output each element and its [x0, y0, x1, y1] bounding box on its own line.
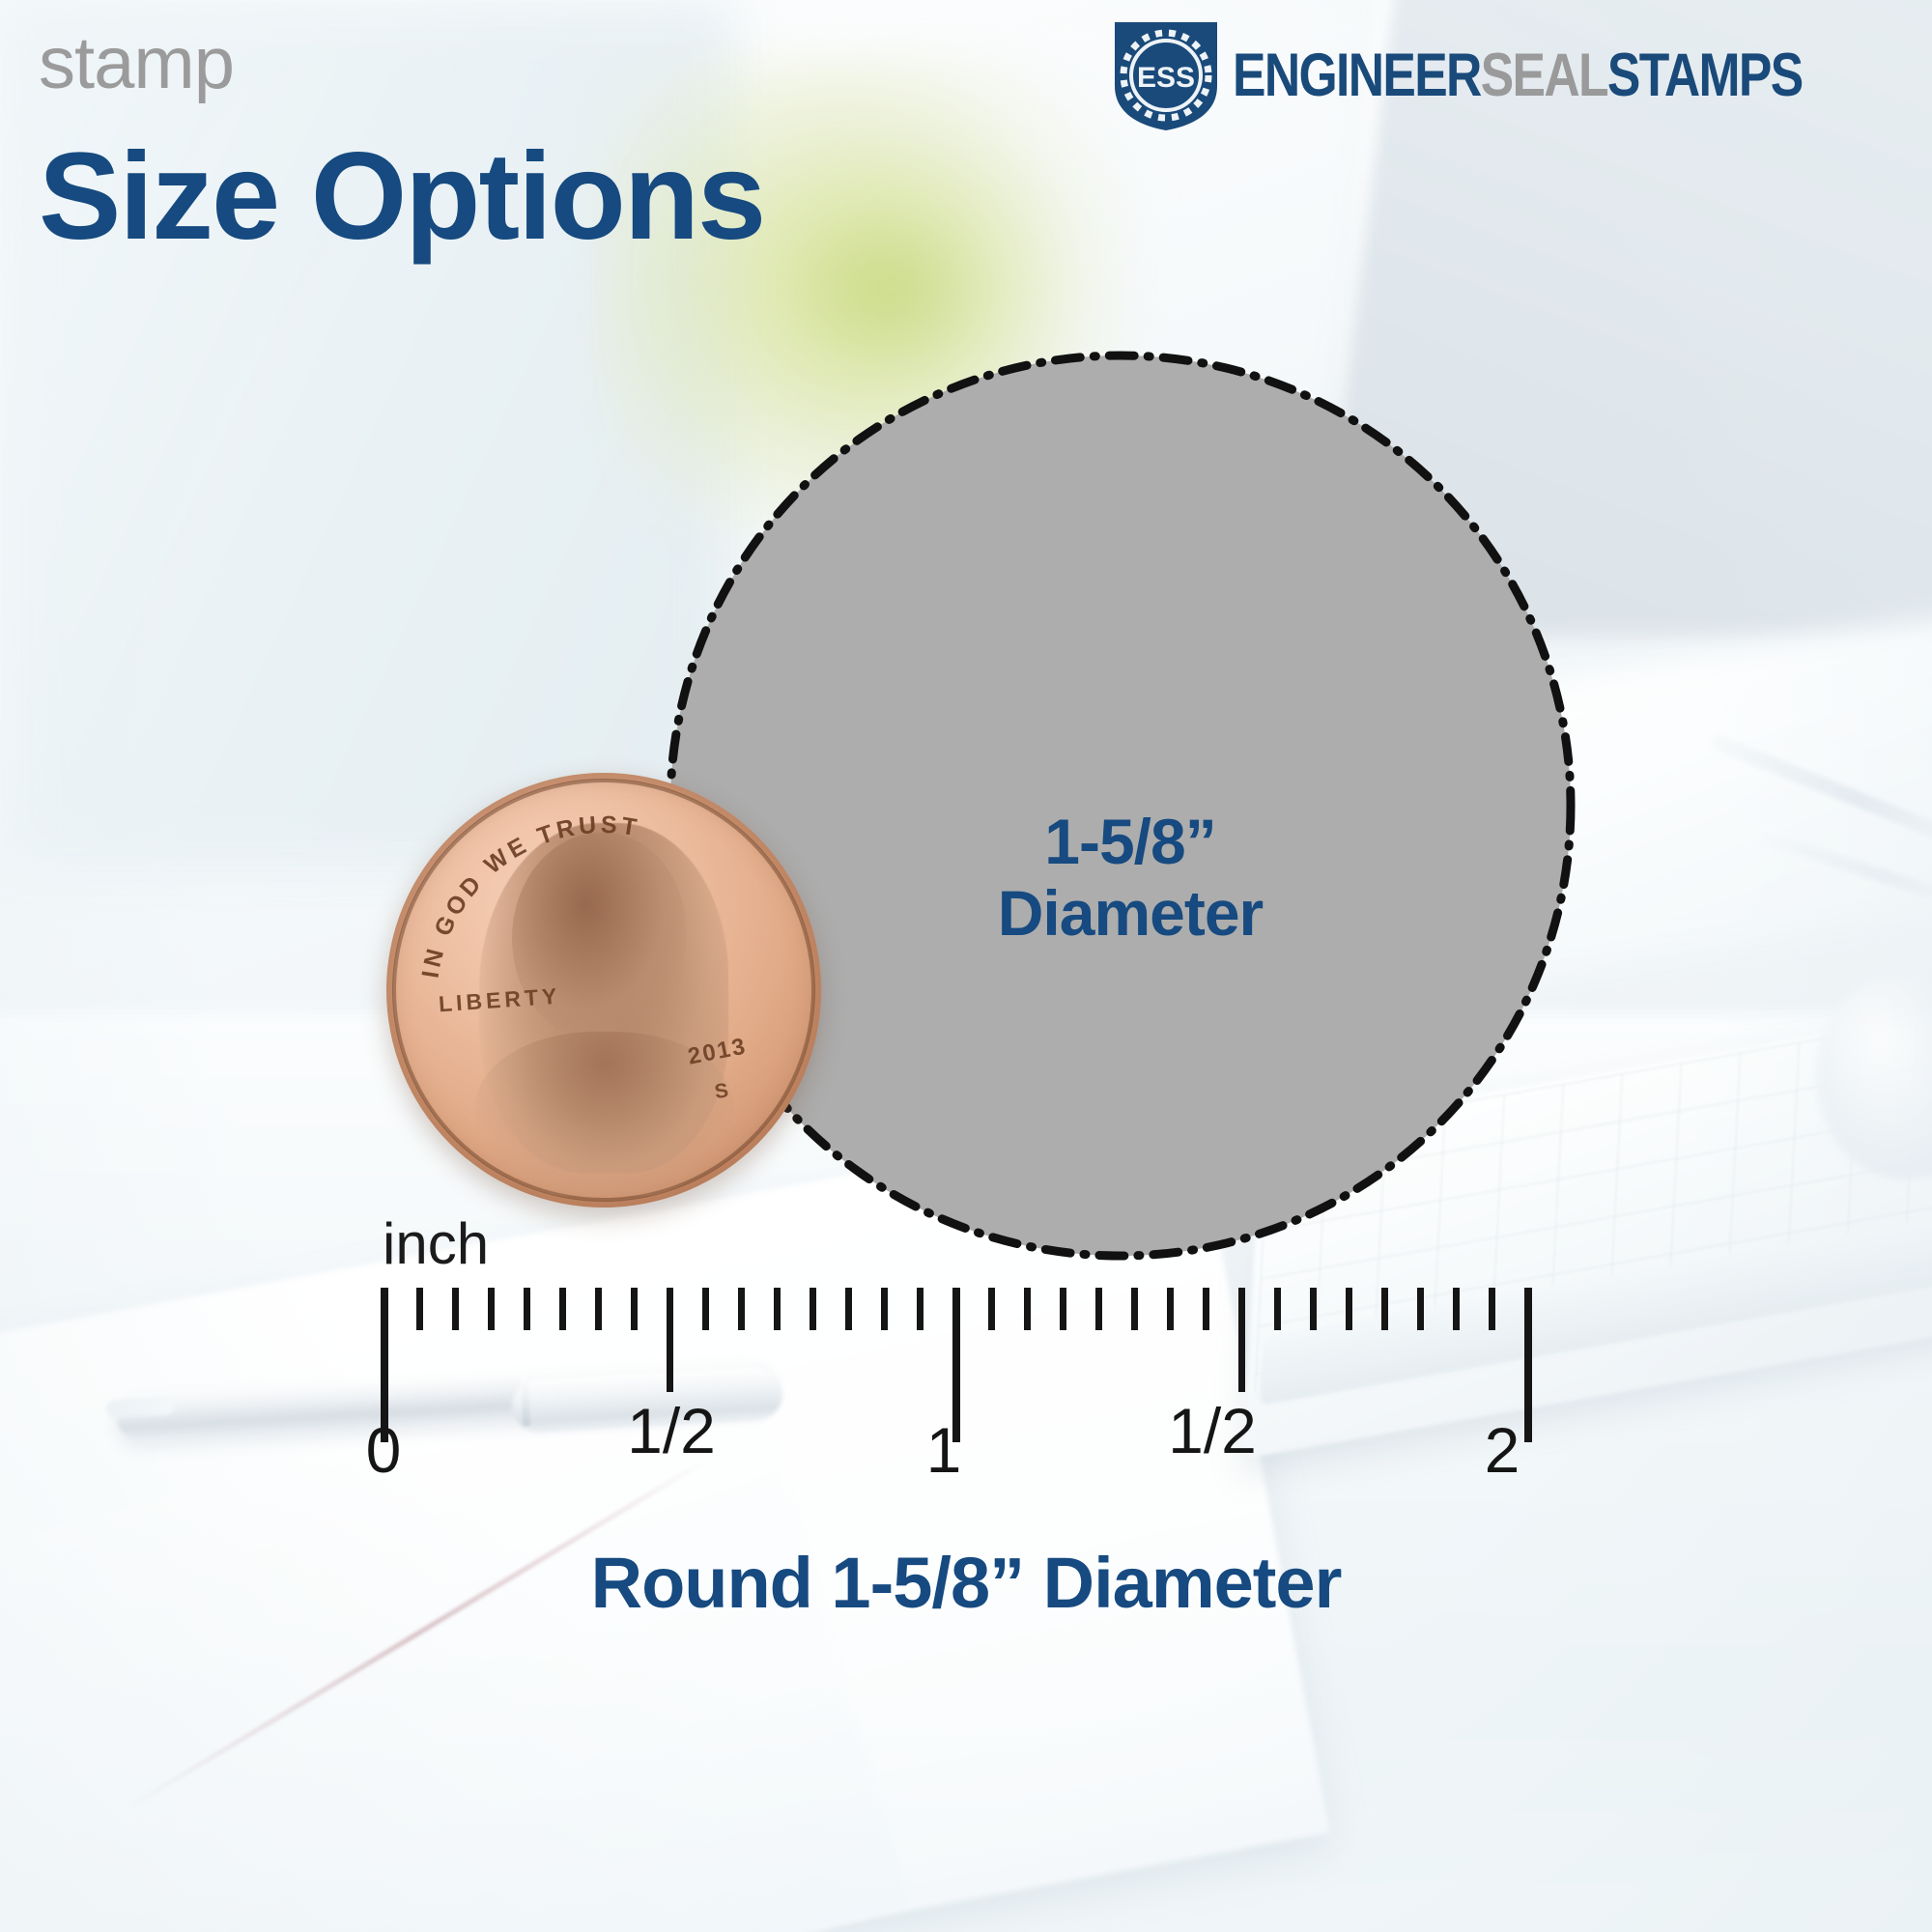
ess-logo[interactable]: ESS ENGINEER SEAL STAMPS .COM [1109, 17, 1932, 133]
page-title: Size Options [39, 135, 764, 259]
size-options-infographic: stamp Size Options ESS ENGINEER SEAL STA… [0, 0, 1932, 1932]
penny-mint-mark: S [713, 1079, 733, 1104]
brand-word: stamp [39, 27, 234, 100]
svg-text:IN GOD WE TRUST: IN GOD WE TRUST [417, 811, 642, 980]
ess-logo-wordmark: ENGINEER SEAL STAMPS [1233, 45, 1803, 106]
size-caption: Round 1-5/8” Diameter [0, 1542, 1932, 1624]
penny-reference-coin: IN GOD WE TRUST LIBERTY 2013 S [386, 773, 821, 1207]
logo-part-seal: SEAL [1481, 45, 1607, 106]
logo-part-stamps: STAMPS [1607, 45, 1803, 106]
penny-inscriptions: IN GOD WE TRUST LIBERTY 2013 S [386, 773, 821, 1207]
svg-text:ESS: ESS [1137, 62, 1195, 94]
ess-gear-shield-logo: ESS [1109, 18, 1223, 132]
logo-part-engineer: ENGINEER [1233, 45, 1481, 106]
